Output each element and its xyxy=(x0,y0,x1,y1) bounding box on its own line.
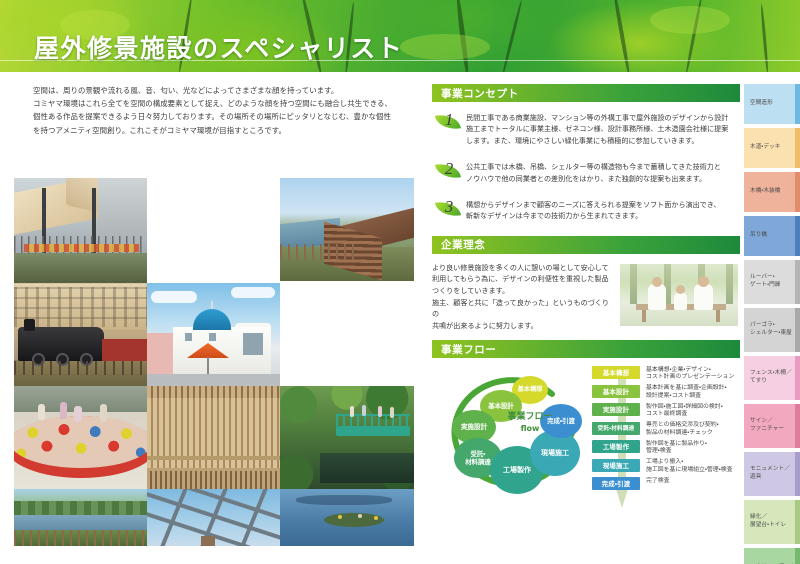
flow-step-row: 基本構想 基本構想・企業・デザイン・ コスト計画のプレゼンテーション xyxy=(592,366,740,381)
visitor-figure xyxy=(390,407,394,418)
banner-foliage-speck xyxy=(400,34,490,60)
red-rail-car xyxy=(102,339,147,361)
concept-text: 民間工事である商業施設、マンション等の外構工事で屋外施設のデザインから設計 施工… xyxy=(466,111,728,147)
concept-number: 1 xyxy=(437,110,461,130)
sidebar-tab-edge xyxy=(795,172,800,212)
photo-lakeside-boardwalk xyxy=(14,489,147,546)
philosophy-line: より良い修景施設を多くの人に憩いの場として安心して xyxy=(432,263,610,275)
child-figure xyxy=(100,404,107,422)
banner-branch-decoration xyxy=(612,0,631,72)
tree-trunk xyxy=(630,264,637,304)
intro-line: コミヤマ環境はこれら全てを空間の構成要素として捉え、どのような顔を持つ空間にも融… xyxy=(33,97,413,110)
concept-item: 3 構想からデザインまで顧客のニーズに答えられる提案をソフト面から演出でき、 斬… xyxy=(432,198,740,223)
flow-step-desc-line: コスト計画のプレゼンテーション xyxy=(646,374,734,381)
bottom-slats xyxy=(147,471,280,489)
father-head xyxy=(652,277,662,287)
photo-steam-locomotive-park xyxy=(14,283,147,386)
philosophy-line: 施主、顧客と共に「造って良かった」というものづくりの xyxy=(432,298,610,321)
sidebar-tab-edge xyxy=(795,356,800,400)
concept-line: 民間工事である商業施設、マンション等の外構工事で屋外施設のデザインから設計 xyxy=(466,113,728,124)
ground-plane xyxy=(147,374,280,386)
banner-foliage-speck xyxy=(650,6,730,34)
philosophy-block: より良い修景施設を多くの人に憩いの場として安心して 利用してもらう為に、デザイン… xyxy=(432,263,740,333)
pergola-beam xyxy=(231,489,276,546)
marker-buoy xyxy=(338,515,342,519)
philosophy-line: 共鳴が出来るように努力します。 xyxy=(432,321,610,333)
flow-step-chip: 完成・引渡 xyxy=(592,477,640,490)
sidebar-tab-label: 緑化／展望台・トイレ xyxy=(750,514,786,529)
concept-line: 施工までトータルに事業主様、ゼネコン様、設計事務所様、土木造園会社様に提案 xyxy=(466,124,728,135)
photo-green-arch-bridge-pond xyxy=(280,386,414,489)
header-banner: 屋外修景施設のスペシャリスト xyxy=(0,0,800,72)
background-building xyxy=(98,178,147,236)
section-title: 企業理念 xyxy=(441,237,485,252)
flow-step-row: 受託・材料調達 専売との価格交渉及び契約・ 製品の材料調達・チェック xyxy=(592,422,740,437)
pergola-column xyxy=(201,536,215,546)
building-window xyxy=(243,333,263,355)
child-figure xyxy=(60,402,67,419)
leaf-number-icon: 1 xyxy=(432,111,462,135)
photo-white-building-blue-dome xyxy=(147,283,280,386)
visitor-figure xyxy=(362,405,366,416)
building-window xyxy=(185,333,192,341)
intro-line: 個性ある作品を提案できるよう日々努力しております。その場所その場所にピッタリとな… xyxy=(33,110,413,123)
flow-step-row: 基本設計 基本計画を基に調査・企画設計・ 設計提案・コスト調査 xyxy=(592,385,740,400)
photo-shade-sail-plaza xyxy=(14,178,147,283)
concept-list: 1 民間工事である商業施設、マンション等の外構工事で屋外施設のデザインから設計 … xyxy=(432,111,740,223)
child-figure xyxy=(38,404,45,420)
section-header-concept: 事業コンセプト xyxy=(432,84,740,102)
flow-step-chip: 受託・材料調達 xyxy=(592,422,640,435)
bench-leg xyxy=(716,310,720,322)
philosophy-line: 利用してもらう為に、デザインの利便性を重視した製品 xyxy=(432,274,610,286)
child-figure xyxy=(74,406,82,422)
flow-step-desc: 製作図を基に製品作り・ 管理・検査 xyxy=(646,440,707,455)
concept-line: します。また、環境にやさしい緑化事業にも積極的に参加していきます。 xyxy=(466,136,728,147)
green-bridge-deck xyxy=(336,426,410,436)
sidebar-tab-label: フェンス・木柵／てすり xyxy=(750,370,792,385)
cloud xyxy=(231,287,275,298)
blue-dome xyxy=(193,309,231,330)
concept-number: 3 xyxy=(437,197,461,217)
page-root: 屋外修景施設のスペシャリスト 空間は、周りの景観や流れる風、音、匂い、光などによ… xyxy=(0,0,800,564)
photo-wooden-louver-fence xyxy=(147,386,280,489)
flow-step-desc-line: 専売との価格交渉及び契約・ xyxy=(646,422,719,429)
concept-item: 2 公共工事では木橋、吊橋、シェルター等の構造物も今まで蓄積してきた技術力と ノ… xyxy=(432,160,740,185)
sidebar-tab-label: サイン／ファニチャー xyxy=(750,418,784,433)
marker-buoy xyxy=(358,514,362,518)
section-title: 事業フロー xyxy=(441,342,497,357)
flow-step-desc-line: コスト最終調査 xyxy=(646,411,723,418)
concept-line: 構想からデザインまで顧客のニーズに答えられる提案をソフト面から演出でき、 xyxy=(466,200,721,211)
mother-figure xyxy=(694,284,713,310)
intro-line: 空間は、周りの景観や流れる風、音、匂い、光などによってさまざまな顔を持っています… xyxy=(33,84,413,97)
sidebar-tab-6[interactable]: パーゴラ・シェルター・東屋 xyxy=(744,308,800,352)
page-title: 屋外修景施設のスペシャリスト xyxy=(34,29,403,65)
flow-step-desc-line: 基本計画を基に調査・企画設計・ xyxy=(646,385,727,392)
banner-branch-decoration xyxy=(760,4,769,72)
section-title: 事業コンセプト xyxy=(441,86,519,101)
cloud xyxy=(151,291,197,303)
sidebar-tab-label: 木橋・木装橋 xyxy=(750,188,780,196)
marker-buoy xyxy=(374,516,378,520)
flow-center-label-en: flow xyxy=(521,424,540,433)
sidebar-tab-11[interactable]: スクリューデッキ xyxy=(744,548,800,564)
child-figure xyxy=(674,292,687,310)
flow-center-label: 事業フロー flow xyxy=(494,412,566,435)
sidebar-tab-edge xyxy=(795,308,800,352)
top-rail-slats xyxy=(147,386,280,398)
business-flow-block: 基本構想 基本設計 実施設計 受託・材料調達 工場製作 現場施工 完成・引渡 事… xyxy=(432,366,740,511)
concept-line: 斬新なデザインは今までの技術力から生まれてきます。 xyxy=(466,211,721,222)
sidebar-tab-4[interactable]: 吊り橋 xyxy=(744,216,800,256)
concept-line: ノウハウで他の同業者との差別化をはかり、また独創的な提案も出来ます。 xyxy=(466,174,721,185)
leaf-number-icon: 2 xyxy=(432,160,462,184)
sidebar-tab-10[interactable]: 緑化／展望台・トイレ xyxy=(744,500,800,544)
philosophy-text: より良い修景施設を多くの人に憩いの場として安心して 利用してもらう為に、デザイン… xyxy=(432,263,610,333)
flow-step-chip: 実施設計 xyxy=(592,403,640,416)
father-figure xyxy=(648,284,666,310)
section-header-philosophy: 企業理念 xyxy=(432,236,740,254)
flow-step-desc-line: 製品の材料調達・チェック xyxy=(646,430,719,437)
flow-step-desc-line: 管理・検査 xyxy=(646,448,707,455)
flow-step-desc: 専売との価格交渉及び契約・ 製品の材料調達・チェック xyxy=(646,422,719,437)
concept-text: 公共工事では木橋、吊橋、シェルター等の構造物も今まで蓄積してきた技術力と ノウハ… xyxy=(466,160,721,185)
flow-step-chip: 現場施工 xyxy=(592,459,640,472)
category-sidebar: 空間造形木道・デッキ木橋・木装橋吊り橋ルーバー・ゲート・門扉パーゴラ・シェルター… xyxy=(744,84,800,564)
sidebar-tab-label: モニュメント／遊具 xyxy=(750,466,790,481)
sidebar-tab-label: パーゴラ・シェルター・東屋 xyxy=(750,322,792,337)
sidebar-tab-edge xyxy=(795,548,800,564)
flow-circle-diagram: 基本構想 基本設計 実施設計 受託・材料調達 工場製作 現場施工 完成・引渡 事… xyxy=(436,370,596,505)
flow-step-desc-line: 施工図を基に現場組立・管理・検査 xyxy=(646,467,732,474)
flow-step-row: 現場施工 工場より搬入・ 施工図を基に現場組立・管理・検査 xyxy=(592,459,740,474)
sidebar-tab-label: ルーバー・ゲート・門扉 xyxy=(750,274,780,289)
concept-number: 2 xyxy=(437,159,461,179)
sidebar-tab-7[interactable]: フェンス・木柵／てすり xyxy=(744,356,800,400)
leaf-number-icon: 3 xyxy=(432,198,462,222)
photo-playground-colored-domes xyxy=(14,386,147,489)
flow-step-desc: 基本構想・企業・デザイン・ コスト計画のプレゼンテーション xyxy=(646,366,734,381)
flow-step-list: 基本構想 基本構想・企業・デザイン・ コスト計画のプレゼンテーション 基本設計 … xyxy=(592,366,740,493)
bench-leg xyxy=(642,310,646,322)
sidebar-tab-edge xyxy=(795,84,800,124)
flow-step-chip: 工場製作 xyxy=(592,440,640,453)
flow-step-row: 工場製作 製作図を基に製品作り・ 管理・検査 xyxy=(592,440,740,455)
boardwalk xyxy=(14,530,147,546)
photo-family-on-bench xyxy=(620,264,738,326)
tree-trunk xyxy=(726,264,733,304)
sidebar-tab-1[interactable]: 空間造形 xyxy=(744,84,800,124)
photo-water-floating-island xyxy=(280,489,414,546)
flow-step-desc-line: 完了検査 xyxy=(646,478,670,485)
concept-line: 公共工事では木橋、吊橋、シェルター等の構造物も今まで蓄積してきた技術力と xyxy=(466,162,721,173)
right-content-column: 事業コンセプト 1 民間工事である商業施設、マンション等の外構工事で屋外施設のデ… xyxy=(432,84,740,511)
intro-paragraph: 空間は、周りの景観や流れる風、音、匂い、光などによってさまざまな顔を持っています… xyxy=(33,84,413,137)
flow-step-row: 完成・引渡 完了検査 xyxy=(592,477,740,490)
sidebar-tab-3[interactable]: 木橋・木装橋 xyxy=(744,172,800,212)
sidebar-tab-edge xyxy=(795,404,800,448)
sidebar-tab-edge xyxy=(795,216,800,256)
photo-riverside-boardwalk-stairs xyxy=(280,178,414,281)
concept-text: 構想からデザインまで顧客のニーズに答えられる提案をソフト面から演出でき、 斬新な… xyxy=(466,198,721,223)
flower-bed xyxy=(24,244,139,252)
pond-water xyxy=(320,453,414,483)
visitor-figure xyxy=(350,406,354,417)
sidebar-tab-edge xyxy=(795,452,800,496)
flow-step-desc: 基本計画を基に調査・企画設計・ 設計提案・コスト調査 xyxy=(646,385,727,400)
sidebar-tab-8[interactable]: サイン／ファニチャー xyxy=(744,404,800,448)
horizontal-rail xyxy=(147,456,280,460)
colored-play-domes xyxy=(14,416,147,468)
flow-step-desc: 完了検査 xyxy=(646,477,670,485)
ground-plane xyxy=(14,253,147,283)
barrier-fence xyxy=(14,361,147,375)
concept-item: 1 民間工事である商業施設、マンション等の外構工事で屋外施設のデザインから設計 … xyxy=(432,111,740,147)
bridge-railing xyxy=(336,414,410,426)
sidebar-tab-label: 空間造形 xyxy=(750,100,773,108)
philosophy-line: つくりをしていきます。 xyxy=(432,286,610,298)
sidebar-tab-label: 吊り橋 xyxy=(750,232,767,240)
flow-step-desc-line: 設計提案・コスト調査 xyxy=(646,393,727,400)
flow-step-desc: 工場より搬入・ 施工図を基に現場組立・管理・検査 xyxy=(646,459,732,474)
sidebar-tab-9[interactable]: モニュメント／遊具 xyxy=(744,452,800,496)
flow-step-row: 実施設計 製作図・施工図・詳細図の検討・ コスト最終調査 xyxy=(592,403,740,418)
flow-step-desc: 製作図・施工図・詳細図の検討・ コスト最終調査 xyxy=(646,403,723,418)
parasol-pole xyxy=(207,357,209,375)
water-reflection xyxy=(296,495,392,505)
banner-branch-decoration xyxy=(501,0,523,72)
section-header-flow: 事業フロー xyxy=(432,340,740,358)
flow-center-label-jp: 事業フロー xyxy=(507,412,552,422)
smokestack xyxy=(24,319,35,331)
sidebar-tab-5[interactable]: ルーバー・ゲート・門扉 xyxy=(744,260,800,304)
building-window xyxy=(209,333,216,341)
flow-step-desc-line: 工場より搬入・ xyxy=(646,459,732,466)
sidebar-tab-edge xyxy=(795,260,800,304)
sidebar-tab-label: 木道・デッキ xyxy=(750,144,780,152)
sidebar-tab-edge xyxy=(795,128,800,168)
child-head xyxy=(676,285,685,294)
photo-gallery xyxy=(14,178,424,546)
sidebar-tab-2[interactable]: 木道・デッキ xyxy=(744,128,800,168)
intro-line: を持つアメニティ空間創り。これこそがコミヤマ環境が目指すところです。 xyxy=(33,124,413,137)
sidebar-tab-edge xyxy=(795,500,800,544)
fence xyxy=(280,244,360,260)
flow-step-chip: 基本設計 xyxy=(592,385,640,398)
flow-step-chip: 基本構想 xyxy=(592,366,640,379)
visitor-figure xyxy=(378,406,382,417)
photo-pergola-roof-structure xyxy=(147,489,280,546)
mother-head xyxy=(698,276,709,287)
